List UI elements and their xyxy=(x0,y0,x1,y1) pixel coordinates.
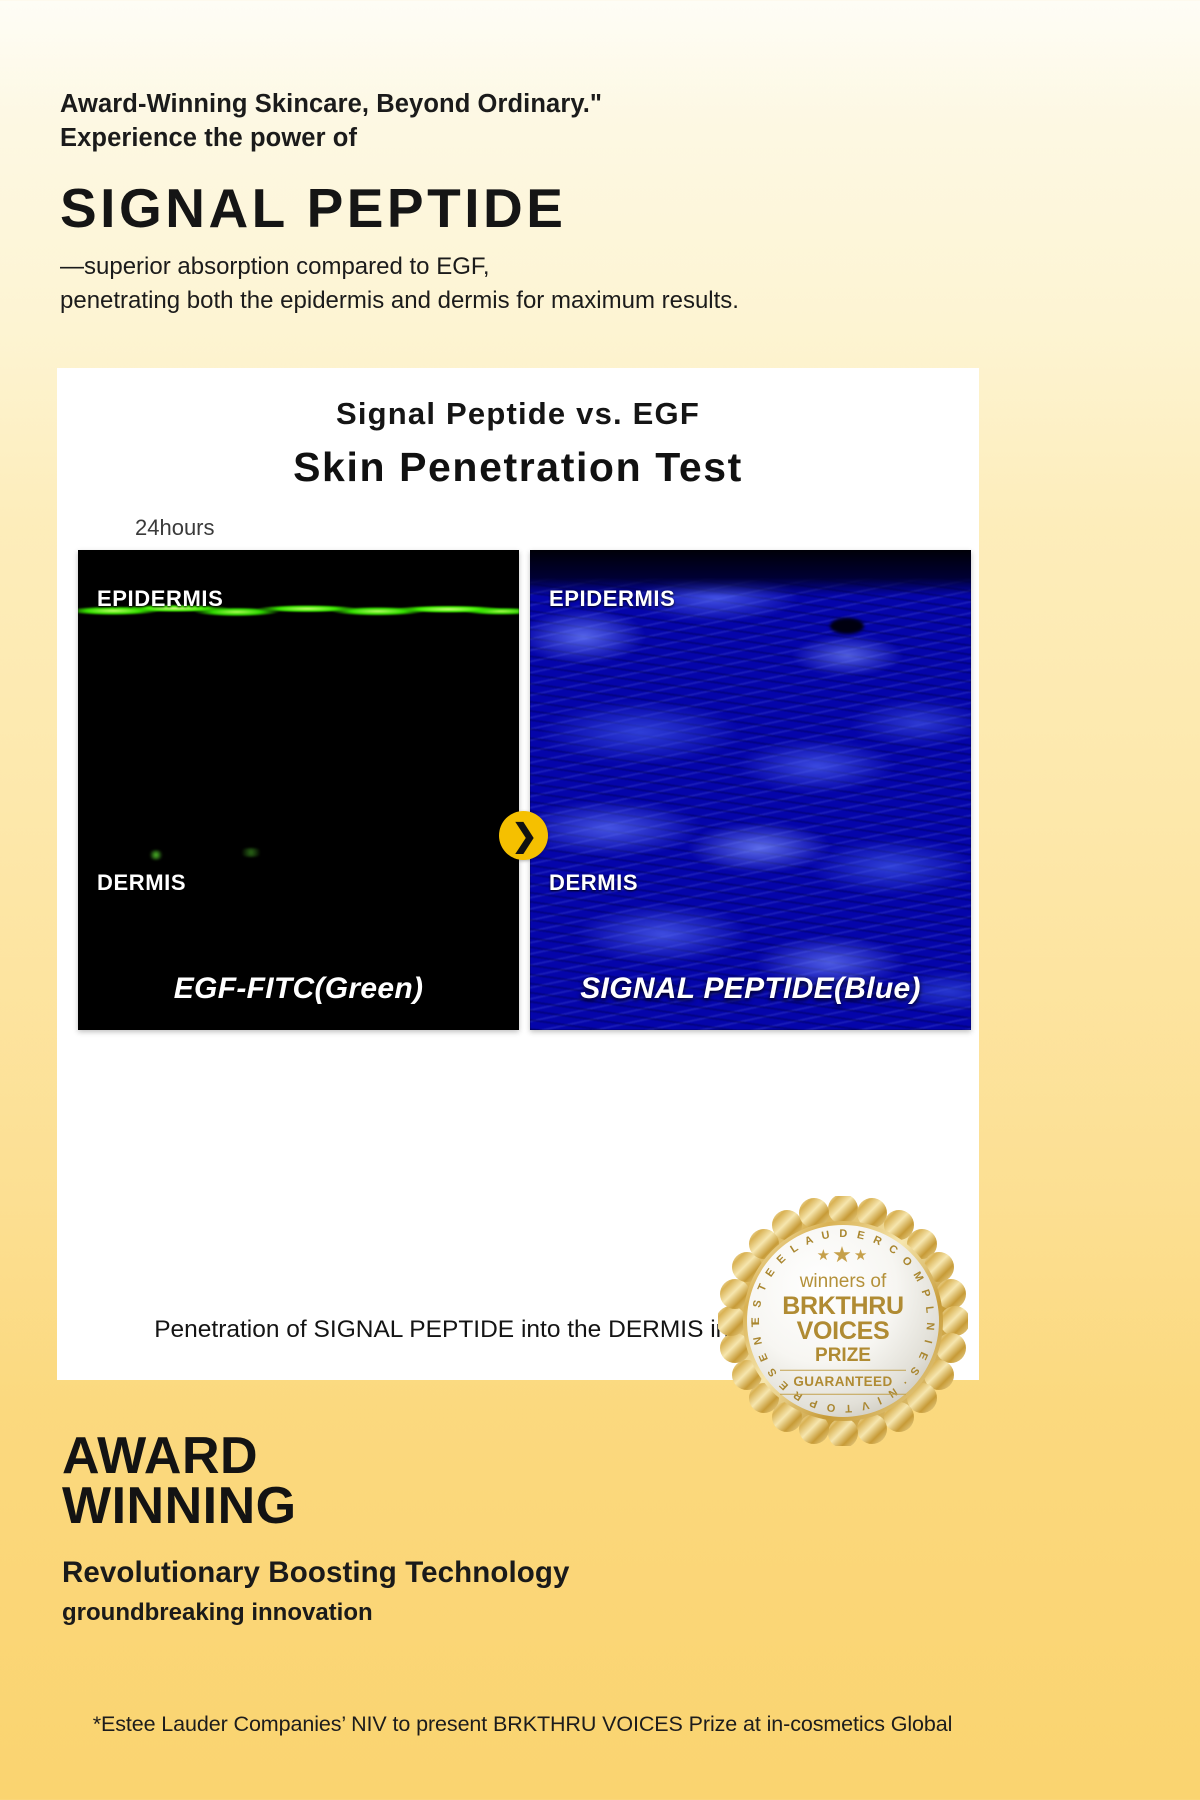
hero-subtitle-line-2: penetrating both the epidermis and dermi… xyxy=(60,284,1020,318)
card-title: Skin Penetration Test xyxy=(57,444,979,491)
card-eyebrow: Signal Peptide vs. EGF xyxy=(57,396,979,432)
seal-divider-top xyxy=(780,1370,906,1371)
seal-divider-bottom xyxy=(780,1393,906,1394)
micrograph-panel-signal-peptide: EPIDERMIS DERMIS SIGNAL PEPTIDE(Blue) xyxy=(530,550,971,1030)
award-subhead-2: groundbreaking innovation xyxy=(62,1599,762,1627)
hero-subtitle-line-1: —superior absorption compared to EGF, xyxy=(60,250,1020,284)
hero-tagline-line-2: Experience the power of xyxy=(60,122,1020,156)
seal-stars: ★★★ xyxy=(768,1244,918,1266)
award-block: AWARD WINNING Revolutionary Boosting Tec… xyxy=(62,1432,762,1627)
hero-text-block: Award-Winning Skincare, Beyond Ordinary.… xyxy=(60,88,1020,318)
disclaimer-text: *Estee Lauder Companies’ NIV to present … xyxy=(0,1712,1045,1737)
seal-guaranteed-label: GUARANTEED xyxy=(768,1375,918,1389)
panel-caption-signal-peptide: SIGNAL PEPTIDE(Blue) xyxy=(530,972,971,1006)
award-headline-line-1: AWARD xyxy=(62,1432,762,1482)
panel-caption-egf: EGF-FITC(Green) xyxy=(78,972,519,1006)
seal-brand-line-1: BRKTHRU xyxy=(768,1294,918,1319)
panel-label-epidermis-left: EPIDERMIS xyxy=(97,586,223,612)
hero-tagline-line-1: Award-Winning Skincare, Beyond Ordinary.… xyxy=(60,88,1020,122)
panel-label-dermis-left: DERMIS xyxy=(97,870,186,896)
award-headline-line-2: WINNING xyxy=(62,1482,762,1532)
seal-winners-label: winners of xyxy=(768,1272,918,1291)
chevron-right-icon: ❯ xyxy=(499,811,548,860)
seal-center-content: ★★★ winners of BRKTHRU VOICES PRIZE GUAR… xyxy=(768,1244,918,1399)
timestamp-label: 24hours xyxy=(135,515,215,541)
award-subhead-1: Revolutionary Boosting Technology xyxy=(62,1556,762,1590)
signal-peptide-fluorescence-texture xyxy=(530,550,971,1030)
seal-prize-label: PRIZE xyxy=(768,1346,918,1365)
micrograph-panel-egf: EPIDERMIS DERMIS EGF-FITC(Green) xyxy=(78,550,519,1030)
egf-dermis-speck xyxy=(148,850,164,860)
award-seal-badge: · E S T E E L A U D E R C O M P L N I E … xyxy=(718,1196,968,1446)
panel-label-epidermis-right: EPIDERMIS xyxy=(549,586,675,612)
tissue-void-blob xyxy=(830,618,864,634)
seal-brand-line-2: VOICES xyxy=(768,1319,918,1344)
egf-dermis-speck xyxy=(238,848,264,857)
page-title: SIGNAL PEPTIDE xyxy=(60,181,1020,236)
micrograph-panel-group: EPIDERMIS DERMIS EGF-FITC(Green) EPIDERM… xyxy=(78,550,964,1030)
panel-label-dermis-right: DERMIS xyxy=(549,870,638,896)
chevron-glyph: ❯ xyxy=(512,820,538,851)
